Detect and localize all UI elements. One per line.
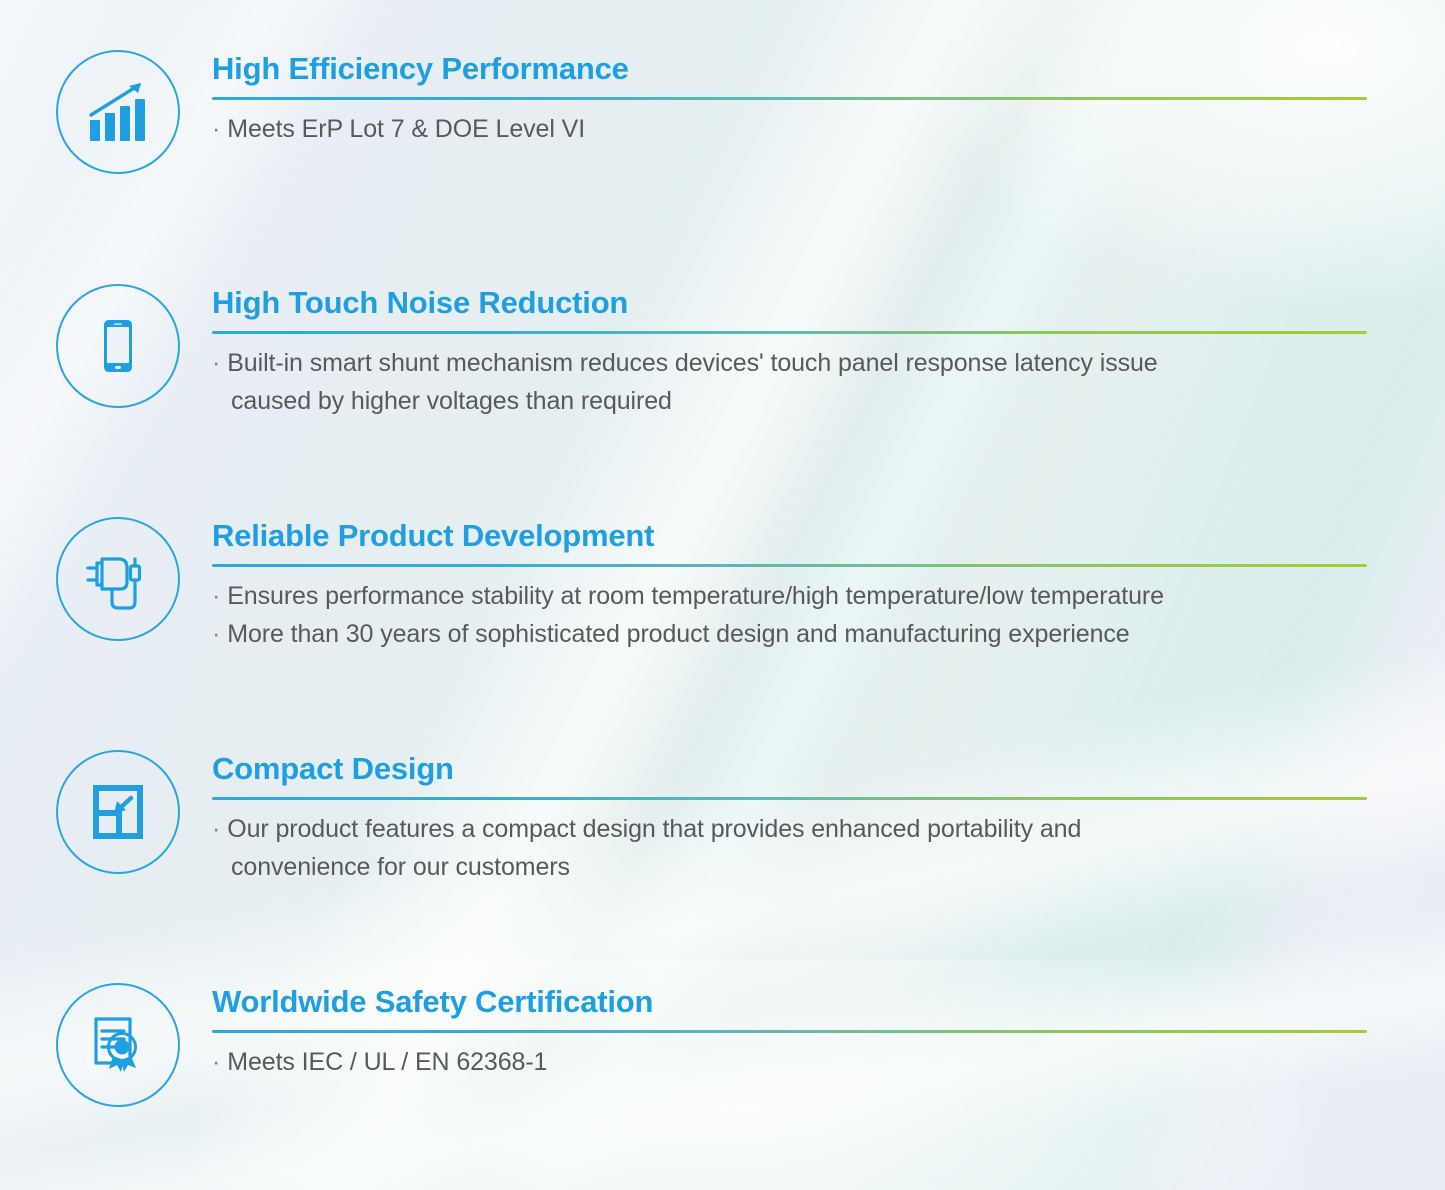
certificate-award-icon — [56, 983, 180, 1107]
feature-bullets: ·Ensures performance stability at room t… — [212, 577, 1372, 653]
feature-bullet: ·Built-in smart shunt mechanism reduces … — [212, 344, 1372, 420]
feature-body: High Efficiency Performance ·Meets ErP L… — [212, 50, 1372, 148]
bullet-dot: · — [212, 582, 220, 610]
feature-bullet: ·Meets IEC / UL / EN 62368-1 — [212, 1043, 1372, 1081]
bullet-dot: · — [212, 349, 220, 377]
bullet-text: Built-in smart shunt mechanism reduces d… — [227, 349, 1157, 377]
feature-bullet: ·Ensures performance stability at room t… — [212, 577, 1372, 615]
feature-bullets: ·Built-in smart shunt mechanism reduces … — [212, 344, 1372, 420]
bullet-text: Our product features a compact design th… — [227, 815, 1081, 843]
bullet-text-continuation: caused by higher voltages than required — [212, 382, 1372, 420]
bullet-text-continuation: convenience for our customers — [212, 848, 1372, 886]
feature-title: Compact Design — [212, 750, 1372, 788]
feature-icon-wrapper — [56, 750, 180, 874]
feature-bullets: ·Our product features a compact design t… — [212, 810, 1372, 886]
feature-divider — [212, 797, 1367, 800]
feature-divider — [212, 331, 1367, 334]
bullet-text: Meets IEC / UL / EN 62368-1 — [227, 1048, 547, 1076]
feature-icon-wrapper — [56, 983, 180, 1107]
bullet-dot: · — [212, 815, 220, 843]
feature-bullet: ·Our product features a compact design t… — [212, 810, 1372, 886]
compact-resize-icon — [56, 750, 180, 874]
feature-icon-wrapper — [56, 284, 180, 408]
feature-bullet: ·Meets ErP Lot 7 & DOE Level VI — [212, 110, 1372, 148]
feature-highlights-page: High Efficiency Performance ·Meets ErP L… — [0, 0, 1445, 1190]
feature-title: High Touch Noise Reduction — [212, 284, 1372, 322]
feature-body: Reliable Product Development ·Ensures pe… — [212, 517, 1372, 653]
feature-title: Reliable Product Development — [212, 517, 1372, 555]
feature-bullet: ·More than 30 years of sophisticated pro… — [212, 615, 1372, 653]
feature-body: Compact Design ·Our product features a c… — [212, 750, 1372, 886]
feature-divider — [212, 1030, 1367, 1033]
top-right-glow — [945, 0, 1445, 300]
feature-bullets: ·Meets ErP Lot 7 & DOE Level VI — [212, 110, 1372, 148]
feature-title: Worldwide Safety Certification — [212, 983, 1372, 1021]
feature-body: Worldwide Safety Certification ·Meets IE… — [212, 983, 1372, 1081]
bullet-text: Meets ErP Lot 7 & DOE Level VI — [227, 115, 585, 143]
bullet-text: Ensures performance stability at room te… — [227, 582, 1164, 610]
bullet-text: More than 30 years of sophisticated prod… — [227, 620, 1129, 648]
bar-chart-growth-icon — [56, 50, 180, 174]
bullet-dot: · — [212, 620, 220, 648]
feature-divider — [212, 564, 1367, 567]
bullet-dot: · — [212, 1048, 220, 1076]
feature-divider — [212, 97, 1367, 100]
feature-bullets: ·Meets IEC / UL / EN 62368-1 — [212, 1043, 1372, 1081]
feature-icon-wrapper — [56, 50, 180, 174]
power-adapter-icon — [56, 517, 180, 641]
smartphone-icon — [56, 284, 180, 408]
feature-body: High Touch Noise Reduction ·Built-in sma… — [212, 284, 1372, 420]
bullet-dot: · — [212, 115, 220, 143]
feature-icon-wrapper — [56, 517, 180, 641]
feature-title: High Efficiency Performance — [212, 50, 1372, 88]
